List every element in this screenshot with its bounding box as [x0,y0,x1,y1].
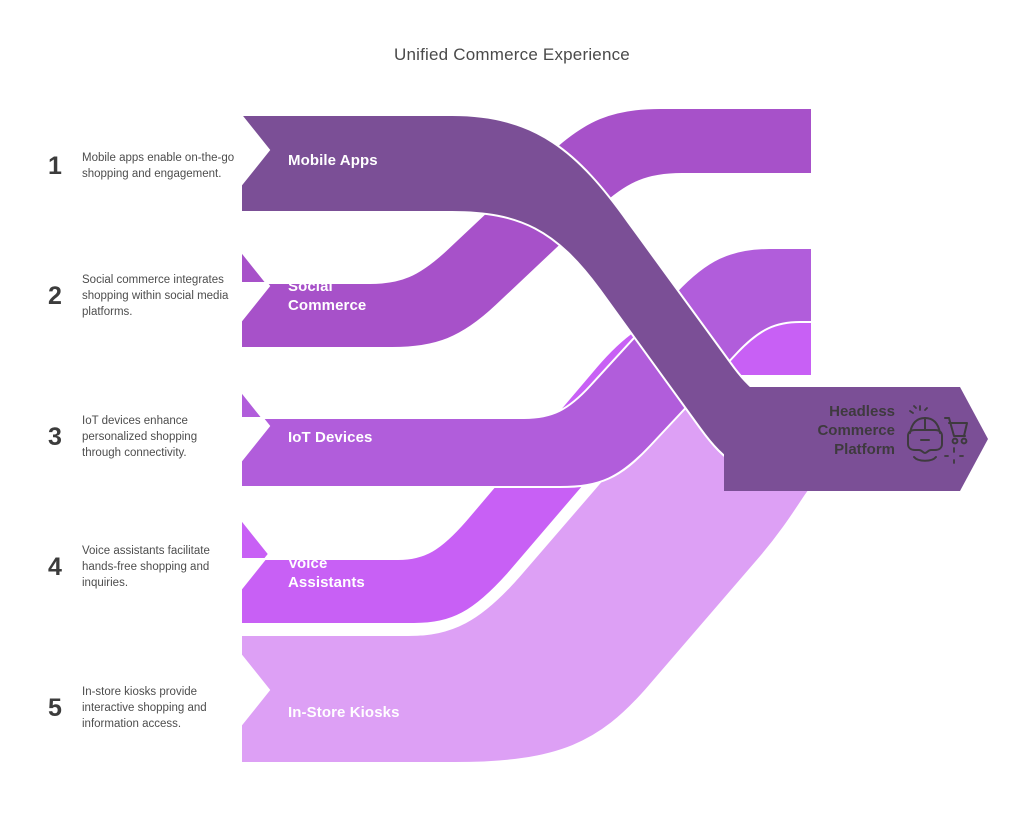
list-item[interactable]: 4 Voice assistants facilitate hands-free… [48,519,238,615]
band-label-social-commerce: Social Commerce [288,278,366,316]
legend-number: 3 [48,425,82,450]
legend-number: 4 [48,555,82,580]
legend-description: In-store kiosks provide interactive shop… [82,684,238,733]
list-item[interactable]: 5 In-store kiosks provide interactive sh… [48,660,238,756]
list-item[interactable]: 1 Mobile apps enable on-the-go shopping … [48,118,238,214]
band-label-in-store-kiosks: In-Store Kiosks [288,704,400,723]
legend-description: Social commerce integrates shopping with… [82,272,238,321]
list-item[interactable]: 2 Social commerce integrates shopping wi… [48,248,238,344]
vr-headset-shopping-cart-icon [901,402,971,474]
band-label-voice-assistants: Voice Assistants [288,555,365,593]
legend-number: 2 [48,284,82,309]
list-item[interactable]: 3 IoT devices enhance personalized shopp… [48,389,238,485]
legend-number: 1 [48,154,82,179]
band-label-iot-devices: IoT Devices [288,429,372,448]
band-label-mobile-apps: Mobile Apps [288,152,378,171]
legend-description: Voice assistants facilitate hands-free s… [82,543,238,592]
legend-description: IoT devices enhance personalized shoppin… [82,413,238,462]
legend-description: Mobile apps enable on-the-go shopping an… [82,150,238,183]
legend-number: 5 [48,696,82,721]
target-label: Headless Commerce Platform [742,403,895,459]
